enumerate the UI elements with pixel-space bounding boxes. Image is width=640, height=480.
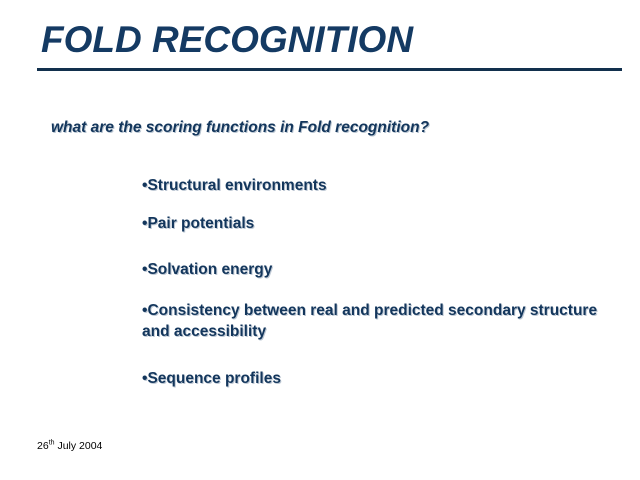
footer-date: 26th July 2004: [37, 440, 102, 452]
list-item-label: Structural environments: [147, 177, 326, 194]
footer-date-rest: July 2004: [55, 440, 103, 452]
spacer: [142, 280, 624, 300]
list-item: •Sequence profiles: [142, 368, 624, 389]
footer-date-day: 26: [37, 440, 49, 452]
list-item-label: Pair potentials: [147, 215, 254, 232]
spacer: [142, 234, 624, 259]
list-item-label: Consistency between real and predicted s…: [142, 302, 597, 340]
list-item: •Solvation energy: [142, 259, 624, 280]
page-title: FOLD RECOGNITION: [41, 19, 413, 61]
spacer: [142, 342, 624, 368]
spacer: [142, 196, 624, 213]
list-item-label: Solvation energy: [147, 261, 272, 278]
list-item-label: Sequence profiles: [147, 370, 281, 387]
list-item: •Pair potentials: [142, 213, 624, 234]
slide-canvas: FOLD RECOGNITION what are the scoring fu…: [0, 0, 640, 480]
bullet-list: •Structural environments •Pair potential…: [142, 175, 624, 389]
list-item: •Structural environments: [142, 175, 624, 196]
list-item: •Consistency between real and predicted …: [142, 300, 624, 342]
slide-subtitle-question: what are the scoring functions in Fold r…: [51, 119, 429, 137]
title-divider-rule: [37, 68, 622, 71]
